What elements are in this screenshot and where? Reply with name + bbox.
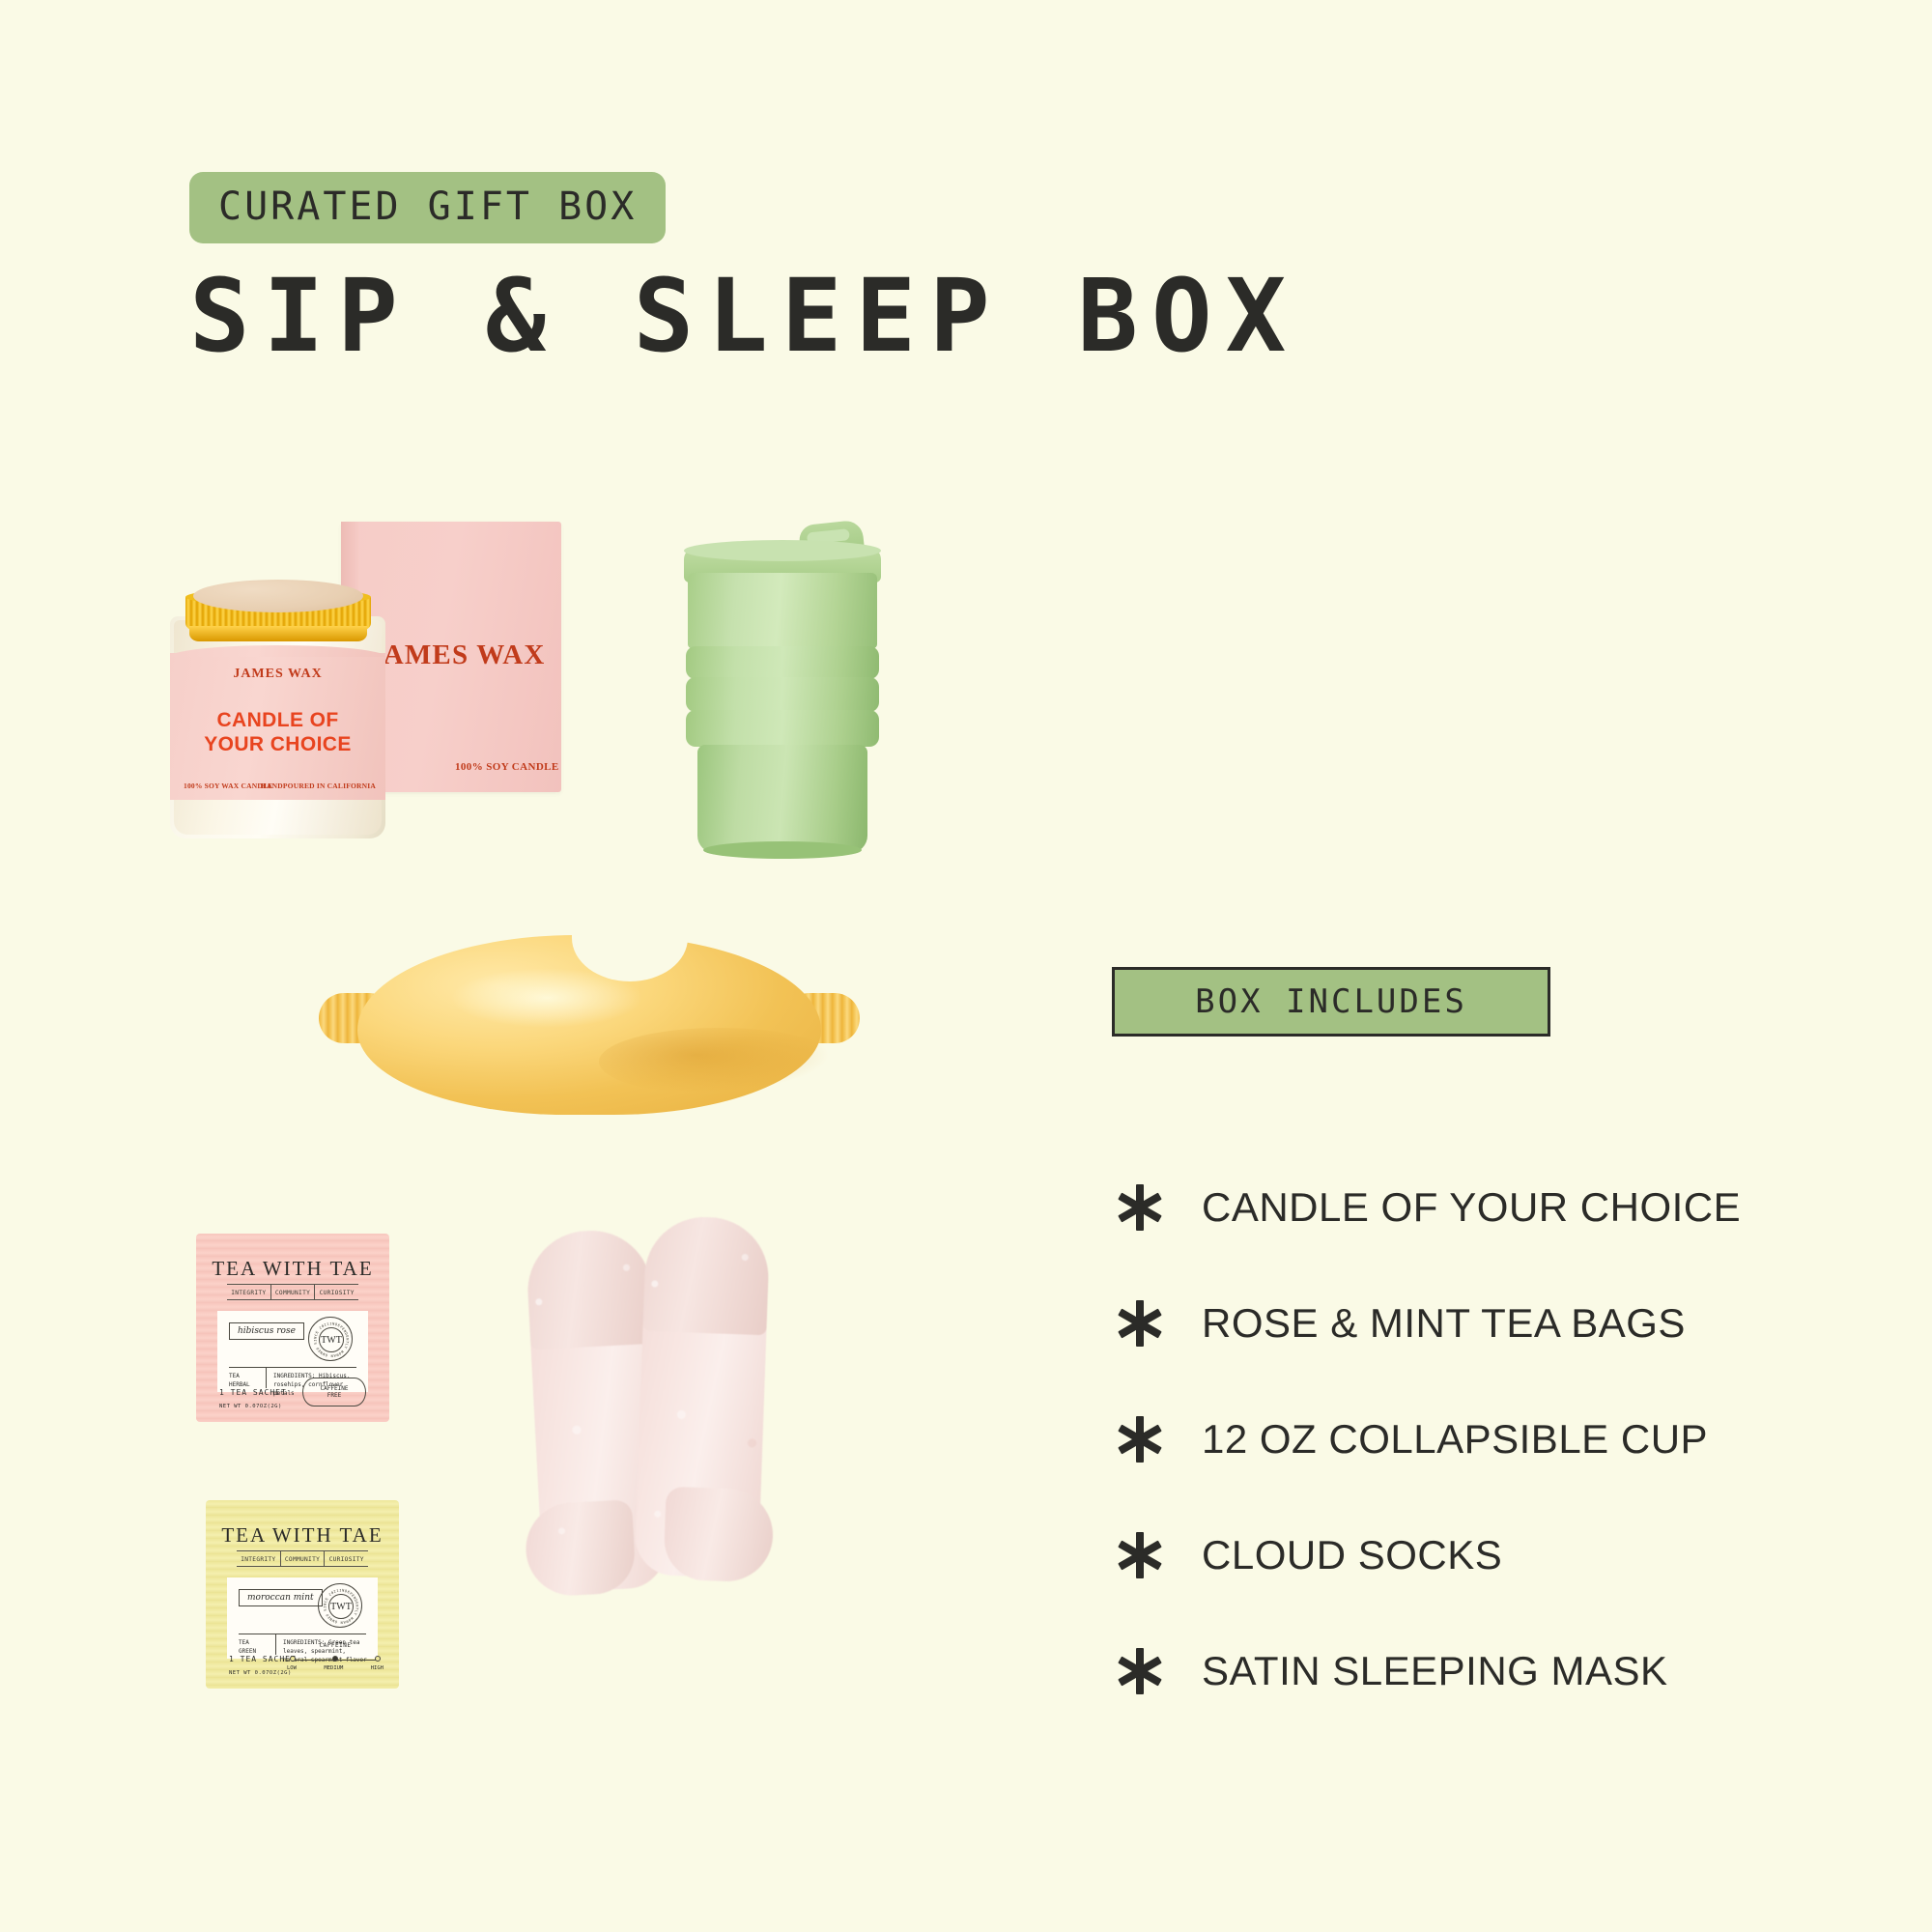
tea-stamp-ring-text: INDEPENDENTLY WOMAN OWNED SINCE 2021 (309, 1318, 354, 1362)
satin-sleeping-mask-image (319, 927, 860, 1140)
asterisk-icon (1113, 1644, 1202, 1698)
box-includes-list: CANDLE OF YOUR CHOICE ROSE & MINT TEA BA… (1113, 1150, 1886, 1729)
cup-fold-ring (686, 710, 879, 747)
mask-shadow (599, 1028, 840, 1095)
list-item-label: CLOUD SOCKS (1202, 1532, 1502, 1578)
list-item-label: ROSE & MINT TEA BAGS (1202, 1300, 1686, 1347)
list-item: ROSE & MINT TEA BAGS (1113, 1265, 1886, 1381)
tea-category: TEA GREEN (239, 1638, 273, 1656)
list-item: SATIN SLEEPING MASK (1113, 1613, 1886, 1729)
tea-sachet-moroccan-mint: TEA WITH TAE INTEGRITY COMMUNITY CURIOSI… (206, 1500, 399, 1689)
list-item-label: SATIN SLEEPING MASK (1202, 1648, 1668, 1694)
tea-category-line1: TEA (239, 1638, 273, 1647)
jar-headline: CANDLE OF YOUR CHOICE (170, 709, 385, 757)
tea-brand: TEA WITH TAE (196, 1257, 389, 1281)
tea-value: COMMUNITY (270, 1285, 315, 1299)
asterisk-icon (1113, 1528, 1202, 1582)
tea-value: CURIOSITY (314, 1285, 358, 1299)
tea-net-weight: NET WT 0.07OZ(2G) (219, 1404, 282, 1409)
jar-fineprint-right: HANDPOURED IN CALIFORNIA (261, 781, 376, 790)
caffeine-scale-title: CAFFEINE (287, 1642, 384, 1649)
tea-category-line1: TEA (229, 1372, 264, 1380)
caffeine-scale-dot-high (375, 1656, 381, 1662)
box-includes-heading: BOX INCLUDES (1112, 967, 1550, 1037)
caffeine-scale-labels: LOW MEDIUM HIGH (287, 1665, 384, 1671)
tea-net-weight: NET WT 0.07OZ(2G) (229, 1670, 292, 1676)
tea-values-row: INTEGRITY COMMUNITY CURIOSITY (237, 1550, 368, 1567)
candle-box-brand: JAMES WAX (368, 639, 561, 671)
tea-stamp-ring-text: INDEPENDENTLY WOMAN OWNED SINCE 2021 (319, 1584, 363, 1629)
cup-base (697, 745, 867, 853)
tea-caffeine-free-badge: CAFFEINE FREE (302, 1378, 366, 1406)
jar-gold-lid (185, 580, 371, 639)
caffeine-scale-dot-medium (332, 1656, 338, 1662)
tea-value: INTEGRITY (227, 1285, 270, 1299)
tea-value: INTEGRITY (237, 1551, 280, 1566)
jar-fineprint-left: 100% SOY WAX CANDLE (184, 781, 272, 790)
tea-card-vertical-rule (275, 1634, 276, 1655)
tea-value: CURIOSITY (324, 1551, 368, 1566)
cup-upper-body (688, 573, 877, 648)
jar-headline-line2: YOUR CHOICE (170, 733, 385, 757)
tea-category: TEA HERBAL (229, 1372, 264, 1389)
tea-sachet-count: 1 TEA SACHET (219, 1388, 287, 1397)
page-title: SIP & SLEEP BOX (189, 261, 1299, 371)
tea-brand-stamp: TWT INDEPENDENTLY WOMAN OWNED SINCE 2021 (318, 1583, 362, 1628)
tea-sachet-hibiscus-rose: TEA WITH TAE INTEGRITY COMMUNITY CURIOSI… (196, 1234, 389, 1422)
sock-right (635, 1215, 771, 1578)
caffeine-level-high: HIGH (371, 1665, 384, 1671)
list-item: 12 OZ COLLAPSIBLE CUP (1113, 1381, 1886, 1497)
candle-product-image: JAMES WAX 100% SOY CANDLE JAMES WAX CAND… (164, 522, 599, 840)
gift-box-product-graphic: CURATED GIFT BOX SIP & SLEEP BOX JAMES W… (0, 0, 1932, 1932)
cup-lid-top (684, 540, 881, 561)
list-item-label: CANDLE OF YOUR CHOICE (1202, 1184, 1741, 1231)
sock-fuzz-texture (628, 1209, 776, 1585)
list-item: CANDLE OF YOUR CHOICE (1113, 1150, 1886, 1265)
mask-highlight (450, 968, 643, 1028)
collapsible-cup-image (676, 517, 889, 865)
asterisk-icon (1113, 1180, 1202, 1235)
jar-label: JAMES WAX CANDLE OF YOUR CHOICE 100% SOY… (170, 653, 385, 800)
caffeine-badge-line1: CAFFEINE (321, 1385, 349, 1393)
curated-gift-box-badge: CURATED GIFT BOX (189, 172, 666, 243)
candle-jar: JAMES WAX CANDLE OF YOUR CHOICE 100% SOY… (164, 560, 391, 840)
caffeine-scale-dot-low (290, 1656, 296, 1662)
tea-caffeine-scale: CAFFEINE LOW MEDIUM HIGH (287, 1642, 384, 1677)
tea-values-row: INTEGRITY COMMUNITY CURIOSITY (227, 1284, 358, 1300)
jar-lid-top (193, 580, 363, 612)
tea-flavor-name: hibiscus rose (229, 1322, 304, 1340)
cup-fold-ring (686, 677, 879, 712)
tea-card-divider (229, 1367, 356, 1368)
tea-card-divider (239, 1634, 366, 1634)
caffeine-level-low: LOW (287, 1665, 297, 1671)
asterisk-icon (1113, 1412, 1202, 1466)
tea-brand: TEA WITH TAE (206, 1523, 399, 1548)
caffeine-level-medium: MEDIUM (324, 1665, 343, 1671)
cup-fold-ring (686, 646, 879, 679)
tea-value: COMMUNITY (280, 1551, 325, 1566)
mask-body (357, 935, 821, 1115)
caffeine-badge-line2: FREE (327, 1392, 341, 1400)
jar-headline-line1: CANDLE OF (170, 709, 385, 733)
list-item-label: 12 OZ COLLAPSIBLE CUP (1202, 1416, 1708, 1463)
candle-box-footer: 100% SOY CANDLE (455, 761, 559, 773)
list-item: CLOUD SOCKS (1113, 1497, 1886, 1613)
tea-card-vertical-rule (266, 1367, 267, 1388)
asterisk-icon (1113, 1296, 1202, 1350)
tea-flavor-name: moroccan mint (239, 1589, 323, 1606)
jar-lid-rim (189, 626, 367, 641)
cloud-socks-image (526, 1217, 816, 1652)
jar-brand: JAMES WAX (170, 667, 385, 682)
tea-brand-stamp: TWT INDEPENDENTLY WOMAN OWNED SINCE 2021 (308, 1317, 353, 1361)
